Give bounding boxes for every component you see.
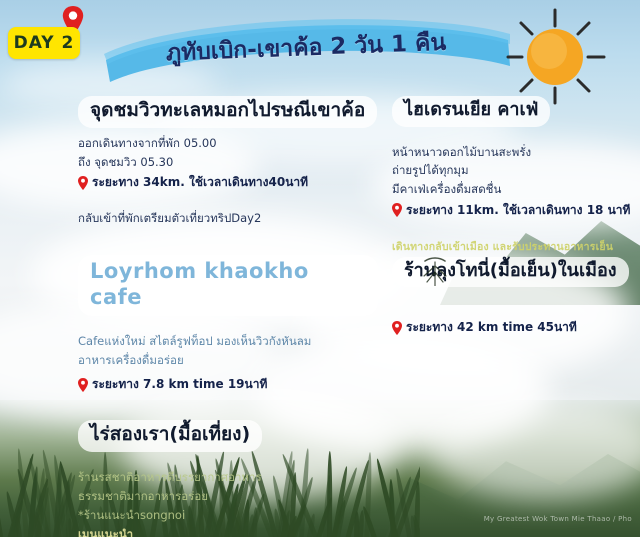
itinerary-item: ไฮเดรนเยีย คาเฟ่ หน้าหนาวดอกไม้บานสะพรั่…	[392, 96, 636, 220]
spacer	[392, 134, 636, 144]
map-pin-icon	[392, 321, 402, 335]
spacer	[78, 394, 378, 420]
distance-row: ระยะทาง 42 km time 45นาที	[392, 318, 636, 337]
item-line: *ร้านแนะนำsongnoi	[78, 507, 378, 525]
distance-row: ระยะทาง 7.8 km time 19นาที	[78, 375, 378, 394]
grass-blade	[0, 475, 5, 537]
item-line: ถ่ายรูปได้ทุกมุม	[392, 162, 636, 180]
item-line: ถึง จุดชมวิว 05.30	[78, 154, 378, 172]
itinerary-item: Loyrhom khaokho cafe Cafeแห่งใหม่ สไตล์ร…	[78, 255, 378, 394]
sun-icon	[500, 8, 610, 106]
right-column: ไฮเดรนเยีย คาเฟ่ หน้าหนาวดอกไม้บานสะพรั่…	[392, 96, 636, 337]
travel-note: เดินทางกลับเข้าเมือง และรับประทานอาหารเย…	[392, 238, 636, 255]
tree-sprout-icon	[418, 256, 452, 286]
item-line: ออกเดินทางจากที่พัก 05.00	[78, 135, 378, 153]
spacer	[78, 323, 378, 333]
itinerary-item: เดินทางกลับเข้าเมือง และรับประทานอาหารเย…	[392, 238, 636, 338]
item-line: ธรรมชาติมากอาหารอร่อย	[78, 488, 378, 506]
distance-text: ระยะทาง 34km. ใช้เวลาเดินทาง40นาที	[92, 173, 308, 192]
distance-text: ระยะทาง 7.8 km time 19นาที	[92, 375, 267, 394]
distance-row: ระยะทาง 11km. ใช้เวลาเดินทาง 18 นาที	[392, 201, 636, 220]
spacer	[78, 459, 378, 469]
itinerary-item: ไร่สองเรา(มื้อเที่ยง) ร้านรสชาติอาหารดีบ…	[78, 420, 378, 537]
item-line: Cafeแห่งใหม่ สไตล์รูฟท็อป มองเห็นวิวกังห…	[78, 333, 378, 351]
item-line: เมนูแนะนำ	[78, 526, 378, 537]
item-line: ร้านรสชาติอาหารดีบรรยากาศอาหาร	[78, 469, 378, 487]
map-pin-icon	[78, 378, 88, 392]
day-badge-label: DAY 2	[14, 33, 75, 53]
day-badge: DAY 2	[8, 27, 80, 59]
left-column: จุดชมวิวทะเลหมอกไปรษณีเขาค้อ ออกเดินทางจ…	[78, 96, 378, 537]
distance-row: ระยะทาง 34km. ใช้เวลาเดินทาง40นาที	[78, 173, 378, 192]
distance-text: ระยะทาง 11km. ใช้เวลาเดินทาง 18 นาที	[406, 201, 630, 220]
title-banner: ภูทับเบิก-เขาค้อ 2 วัน 1 คืน	[96, 14, 516, 82]
item-heading: Loyrhom khaokho cafe	[78, 255, 378, 316]
item-line: หน้าหนาวดอกไม้บานสะพรั่ง	[392, 144, 636, 162]
watermark: My Greatest Wok Town Mie Thaao / Pho	[484, 515, 632, 523]
spacer	[78, 192, 378, 210]
item-heading: จุดชมวิวทะเลหมอกไปรษณีเขาค้อ	[78, 96, 377, 128]
item-line: มีคาเฟ่เครื่องดื่มสดชื่น	[392, 181, 636, 199]
distance-text: ระยะทาง 42 km time 45นาที	[406, 318, 577, 337]
grass-blade	[14, 516, 22, 537]
spacer	[78, 229, 378, 255]
trip-itinerary-poster: DAY 2 ภูทับเบิก-เขาค้อ 2 วัน 1 คืน จุดชม…	[0, 0, 640, 537]
spacer	[392, 220, 636, 238]
item-line: กลับเข้าที่พักเตรียมตัวเที่ยวทริปDay2	[78, 210, 378, 228]
item-line: อาหารเครื่องดื่มอร่อย	[78, 352, 378, 370]
itinerary-item: จุดชมวิวทะเลหมอกไปรษณีเขาค้อ ออกเดินทางจ…	[78, 96, 378, 228]
map-pin-icon	[78, 176, 88, 190]
map-pin-icon	[392, 203, 402, 217]
item-heading: ไร่สองเรา(มื้อเที่ยง)	[78, 420, 262, 452]
item-heading: ไฮเดรนเยีย คาเฟ่	[392, 96, 550, 127]
spacer	[392, 294, 636, 312]
